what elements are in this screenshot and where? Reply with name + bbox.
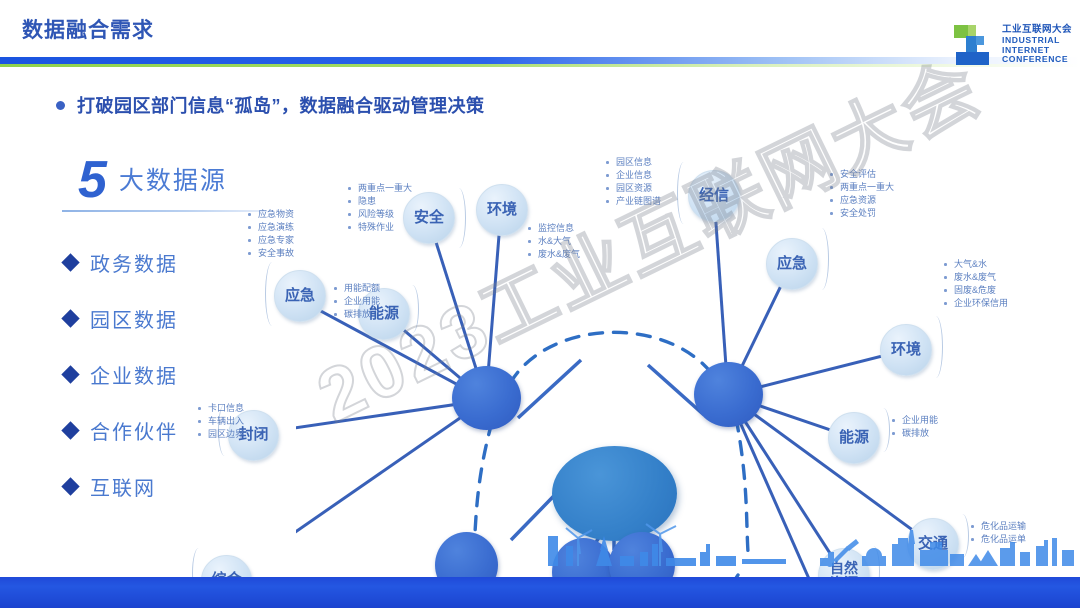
annotation-huanjing-2: 大气&水 废水&废气 固废&危废 企业环保信用 xyxy=(944,258,1008,310)
node-anquan-label: 安全 xyxy=(414,210,444,226)
annotation-yingji-2: 安全评估 两重点一重大 应急资源 安全处罚 xyxy=(830,168,894,220)
list-item-label: 互联网 xyxy=(90,472,156,501)
list-item-label: 合作伙伴 xyxy=(90,416,178,445)
logo-text: 工业互联网大会 INDUSTRIAL INTERNET CONFERENCE xyxy=(1002,25,1072,65)
page-title: 数据融合需求 xyxy=(22,14,154,44)
bullet-text: 打破园区部门信息“孤岛”，数据融合驱动管理决策 xyxy=(77,92,485,118)
footer xyxy=(0,562,1080,608)
list-item[interactable]: 企业数据 xyxy=(60,360,275,389)
node-jingxin[interactable]: 经信 xyxy=(688,170,740,222)
hub-node-partner[interactable] xyxy=(694,362,763,427)
skyline-silhouette-icon xyxy=(0,520,1080,580)
node-huanjing-2[interactable]: 环境 xyxy=(880,324,932,376)
annotation-nengyuan: 用能配额 企业用能 碳排放 xyxy=(334,282,380,321)
data-source-word: 大数据源 xyxy=(119,161,227,202)
node-yingji-2[interactable]: 应急 xyxy=(766,238,818,290)
list-item-label: 政务数据 xyxy=(90,248,178,277)
logo-en-3: CONFERENCE xyxy=(1002,55,1072,65)
brace-yingji xyxy=(265,262,277,326)
node-yingji-2-label: 应急 xyxy=(777,256,807,272)
diamond-bullet-icon xyxy=(61,253,79,271)
header-divider xyxy=(0,57,1080,67)
logo-mark-icon xyxy=(952,22,996,68)
node-yingji-label: 应急 xyxy=(285,288,315,304)
left-panel-heading: 5 大数据源 xyxy=(60,158,275,202)
node-nengyuan-2-label: 能源 xyxy=(839,430,869,446)
diamond-bullet-icon xyxy=(61,309,79,327)
diamond-bullet-icon xyxy=(61,477,79,495)
annotation-fengbi: 卡口信息 车辆出入 园区边界 xyxy=(198,402,244,441)
list-item[interactable]: 互联网 xyxy=(60,472,275,501)
data-source-list: 政务数据 园区数据 企业数据 合作伙伴 互联网 xyxy=(60,248,275,501)
node-huanjing-1[interactable]: 环境 xyxy=(476,184,528,236)
list-item[interactable]: 园区数据 xyxy=(60,304,275,333)
node-huanjing-1-label: 环境 xyxy=(487,202,517,218)
list-item[interactable]: 政务数据 xyxy=(60,248,275,277)
brace-jingxin xyxy=(677,162,688,224)
data-source-count: 5 xyxy=(78,158,107,202)
bullet-row: 打破园区部门信息“孤岛”，数据融合驱动管理决策 xyxy=(56,92,485,118)
node-yingji[interactable]: 应急 xyxy=(274,270,326,322)
conference-logo: 工业互联网大会 INDUSTRIAL INTERNET CONFERENCE xyxy=(952,22,1072,68)
node-nengyuan-2[interactable]: 能源 xyxy=(828,412,880,464)
list-item-label: 园区数据 xyxy=(90,304,178,333)
annotation-nengyuan-2: 企业用能 碳排放 xyxy=(892,414,938,440)
left-panel-rule xyxy=(62,210,267,212)
annotation-jingxin: 园区信息 企业信息 园区资源 产业链图谱 xyxy=(606,156,661,208)
annotation-anquan: 两重点一重大 隐患 风险等级 特殊作业 xyxy=(348,182,412,234)
diamond-bullet-icon xyxy=(61,421,79,439)
annotation-yingji: 应急物资 应急演练 应急专家 安全事故 xyxy=(248,208,294,260)
list-item-label: 企业数据 xyxy=(90,360,178,389)
divider-blue-band xyxy=(0,57,1080,64)
annotation-huanjing-1: 监控信息 水&大气 废水&废气 xyxy=(528,222,580,261)
footer-water-band xyxy=(0,577,1080,608)
divider-green-band xyxy=(0,64,1080,67)
network-diagram: 安全 两重点一重大 隐患 风险等级 特殊作业 能源 用能配额 企业用能 碳排放 … xyxy=(296,150,1080,580)
node-huanjing-2-label: 环境 xyxy=(891,342,921,358)
slide: 数据融合需求 工业互联网大会 INDUSTRIAL INTERNET CONFE… xyxy=(0,0,1080,608)
hub-node-gov[interactable] xyxy=(452,366,521,430)
node-jingxin-label: 经信 xyxy=(699,188,729,204)
diamond-bullet-icon xyxy=(61,365,79,383)
bullet-dot-icon xyxy=(56,101,65,110)
